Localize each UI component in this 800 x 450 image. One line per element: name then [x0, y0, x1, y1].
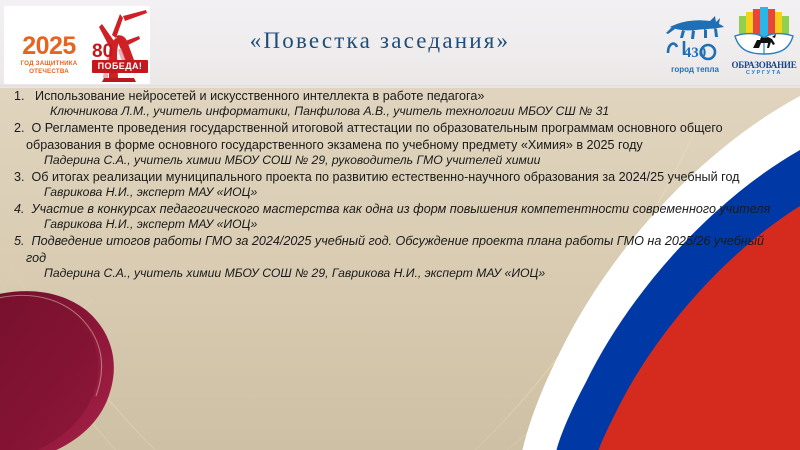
- agenda-item-1-speakers: Ключникова Л.М., учитель информатики, Па…: [14, 104, 786, 120]
- logo-year-sub1: ГОД ЗАЩИТНИКА: [8, 60, 90, 67]
- education-sub: СУРГУТА: [729, 70, 799, 76]
- agenda-item-3: 3. Об итогах реализации муниципального п…: [14, 169, 786, 185]
- surgut-tagline: город тепла: [662, 65, 728, 74]
- agenda-item-5-number: 5.: [14, 234, 25, 248]
- agenda-item-2-text: О Регламенте проведения государственной …: [26, 121, 723, 151]
- agenda-item-3-number: 3.: [14, 170, 25, 184]
- victory-ribbon: ПОБЕДА!: [92, 60, 148, 73]
- agenda-item-2-speakers: Падерина С.А., учитель химии МБОУ СОШ № …: [14, 153, 786, 169]
- agenda-item-3-speakers: Гаврикова Н.И., эксперт МАУ «ИОЦ»: [14, 185, 786, 201]
- agenda-item-5-speakers: Падерина С.А., учитель химии МБОУ СОШ № …: [14, 266, 786, 282]
- svg-text:430: 430: [684, 45, 707, 61]
- agenda-item-2: 2. О Регламенте проведения государственн…: [14, 120, 786, 153]
- agenda-item-3-text: Об итогах реализации муниципального прое…: [32, 170, 740, 184]
- agenda-item-4-speakers: Гаврикова Н.И., эксперт МАУ «ИОЦ»: [14, 217, 786, 233]
- agenda-item-4-number: 4.: [14, 202, 25, 216]
- logo-year-sub2: ОТЕЧЕСТВА: [8, 68, 90, 75]
- open-book-horse-icon: [731, 6, 797, 62]
- victory-80-badge: 80 ПОБЕДА!: [92, 44, 148, 64]
- agenda-content: 1. Использование нейросетей и искусствен…: [0, 88, 800, 450]
- agenda-item-1-number: 1.: [14, 89, 25, 103]
- logo-education-surgut: ОБРАЗОВАНИЕ СУРГУТА: [731, 6, 797, 82]
- education-word: ОБРАЗОВАНИЕ: [729, 60, 799, 70]
- victory-number: 80: [92, 42, 113, 61]
- logo-2025-defender-year: 2025 ГОД ЗАЩИТНИКА ОТЕЧЕСТВА 80 ПОБЕДА!: [4, 6, 150, 84]
- logo-year-text: 2025: [12, 34, 86, 59]
- agenda-item-5: 5. Подведение итогов работы ГМО за 2024/…: [14, 233, 786, 266]
- presentation-slide: «Повестка заседания» 2025 ГОД ЗАЩИТНИКА …: [0, 0, 800, 450]
- page-title: «Повестка заседания»: [170, 28, 590, 54]
- logo-surgut-city: 430 город тепла: [662, 7, 728, 81]
- agenda-item-5-text: Подведение итогов работы ГМО за 2024/202…: [26, 234, 764, 264]
- victory-word: ПОБЕДА!: [92, 61, 148, 71]
- agenda-item-4: 4. Участие в конкурсах педагогического м…: [14, 201, 786, 217]
- agenda-item-1: 1. Использование нейросетей и искусствен…: [14, 88, 786, 104]
- agenda-item-2-number: 2.: [14, 121, 25, 135]
- surgut-fox-icon: 430: [662, 7, 728, 65]
- agenda-item-1-text: Использование нейросетей и искусственног…: [35, 89, 484, 103]
- agenda-item-4-text: Участие в конкурсах педагогического маст…: [32, 202, 771, 216]
